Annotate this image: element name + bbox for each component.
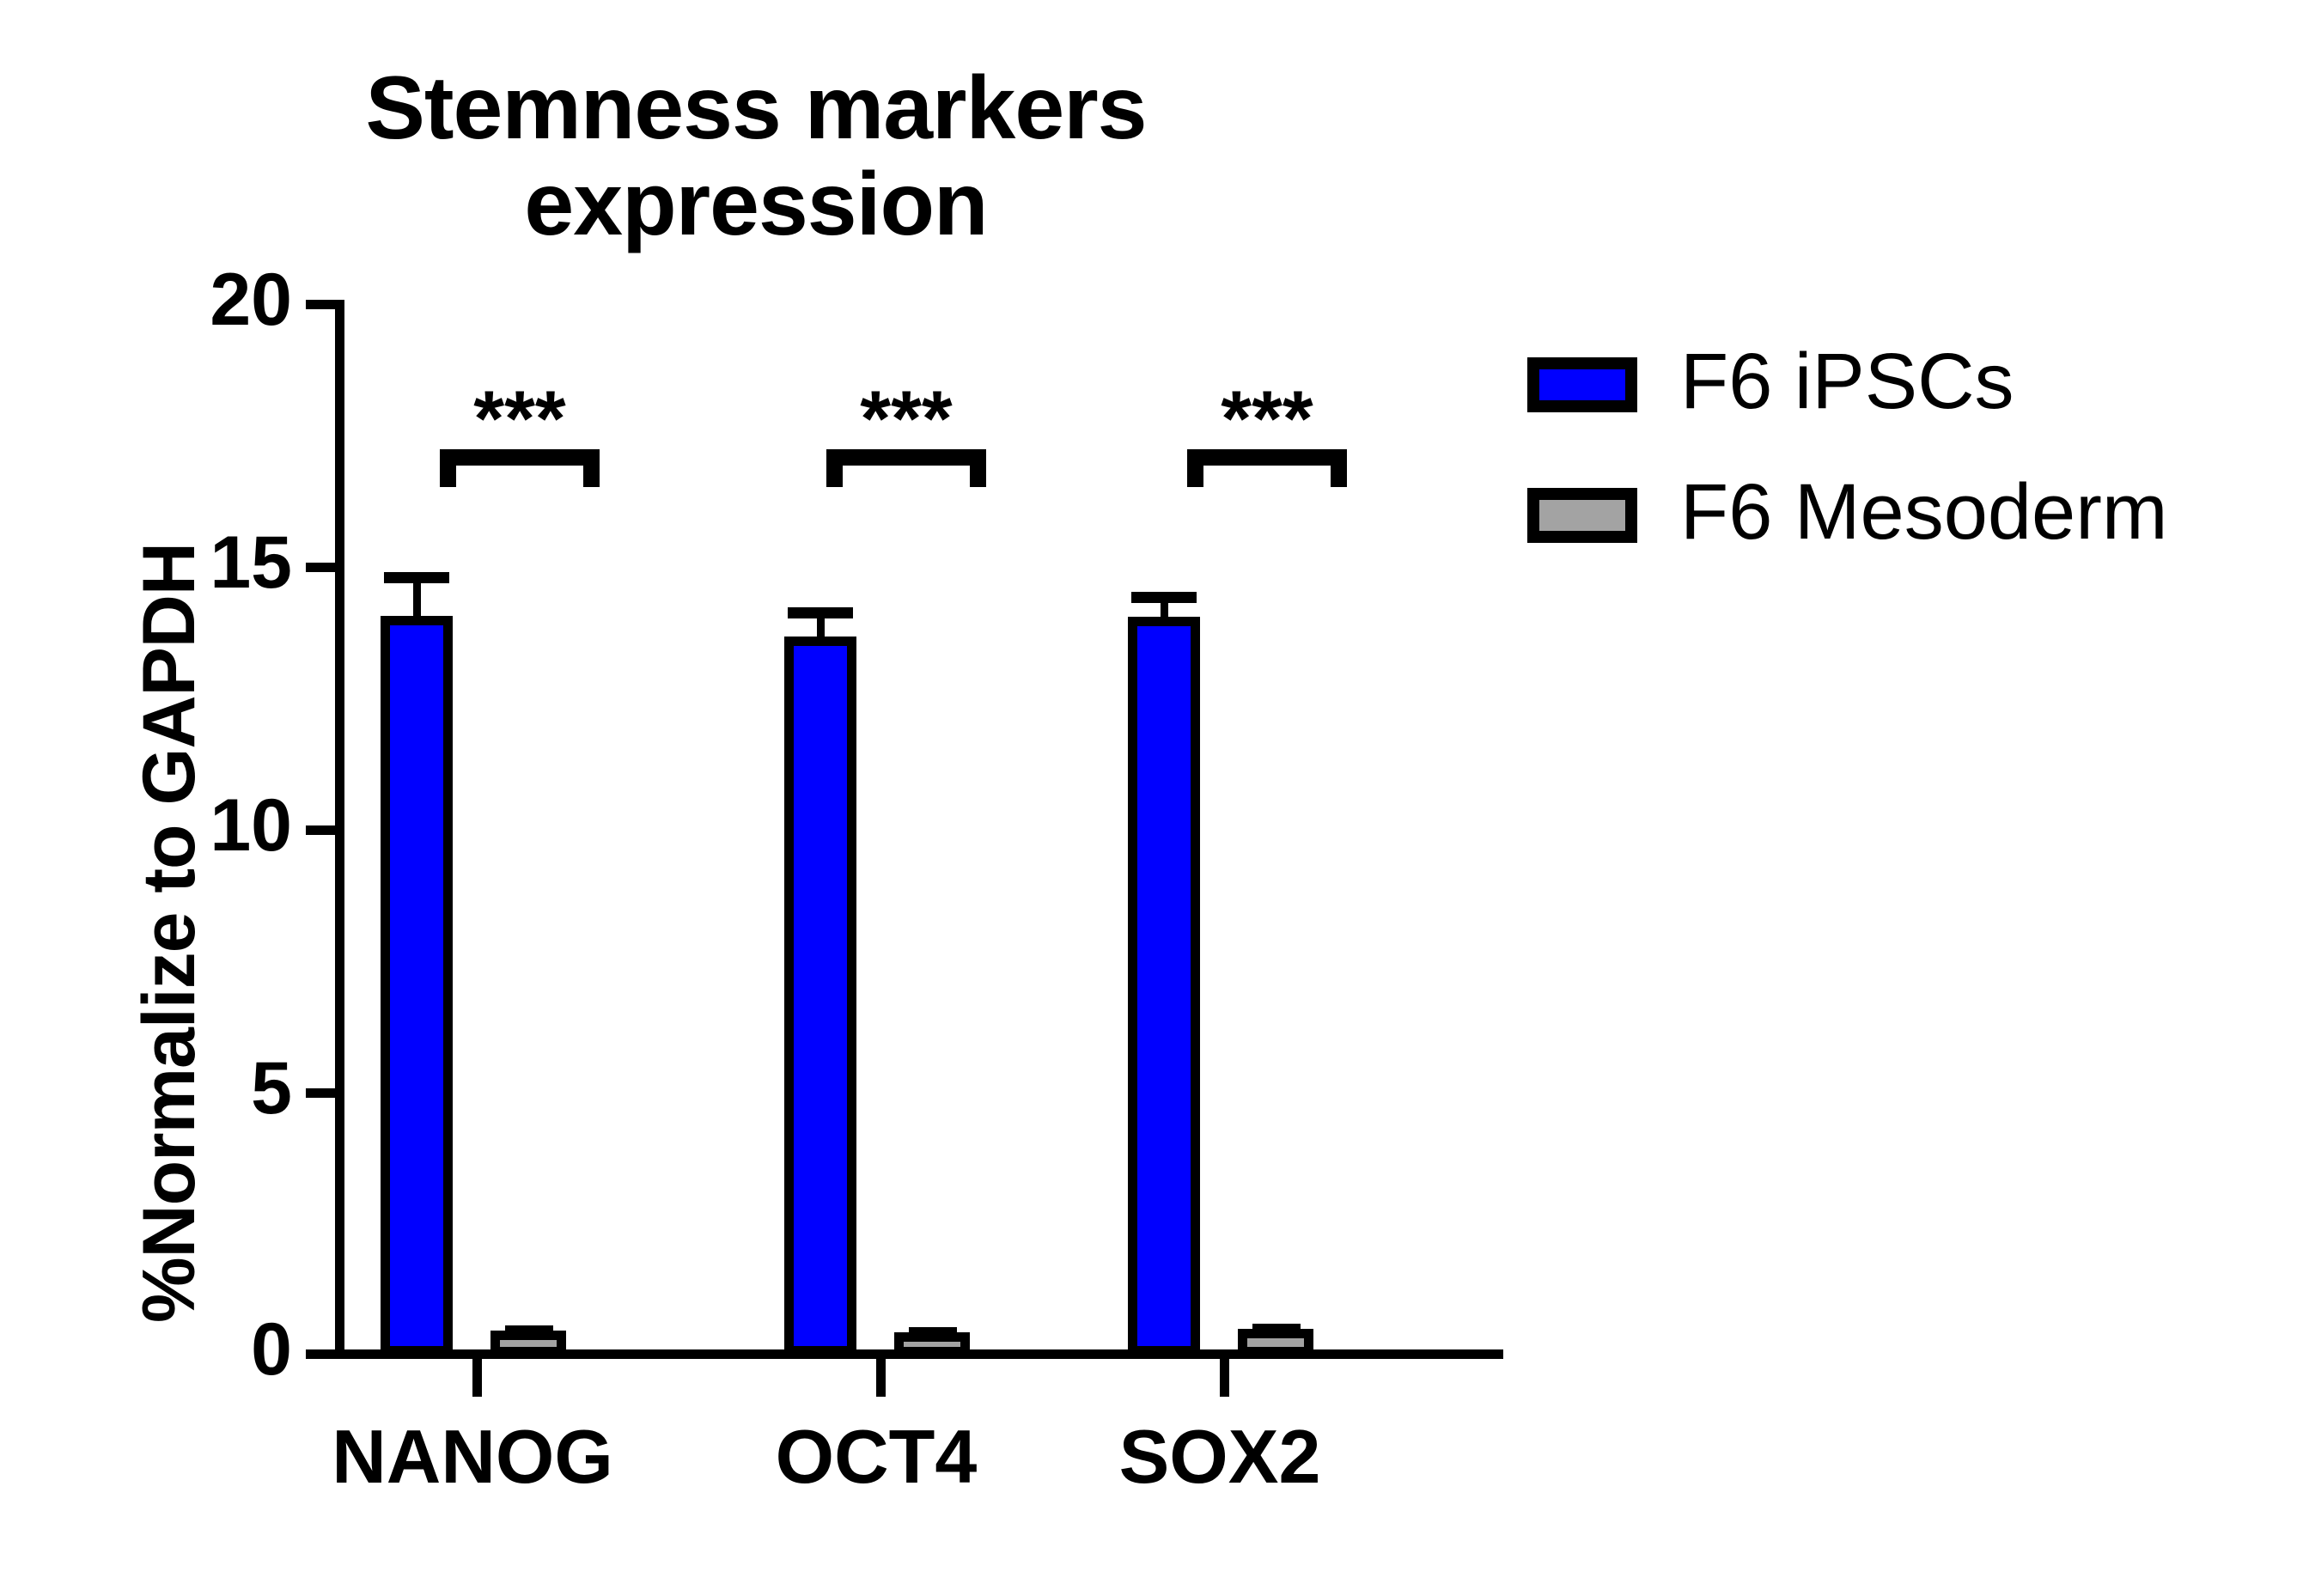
y-tick-5 bbox=[306, 1088, 335, 1098]
y-tick-label-5: 5 bbox=[146, 1051, 292, 1125]
bar-nanog-ipsc bbox=[381, 616, 453, 1355]
y-tick-label-15: 15 bbox=[146, 526, 292, 600]
y-tick-label-0: 0 bbox=[146, 1313, 292, 1386]
errorbar-cap-sox2-mesoderm bbox=[1252, 1324, 1301, 1335]
y-axis-spine bbox=[335, 300, 344, 1359]
legend-swatch-ipsc-icon bbox=[1527, 357, 1637, 412]
y-tick-label-20: 20 bbox=[146, 263, 292, 337]
x-tick-label-sox2: SOX2 bbox=[1052, 1413, 1387, 1501]
bar-sox2-ipsc bbox=[1128, 617, 1200, 1355]
x-tick-label-nanog: NANOG bbox=[305, 1413, 640, 1501]
errorbar-cap-sox2-ipsc bbox=[1131, 592, 1197, 603]
legend-label-ipsc: F6 iPSCs bbox=[1680, 337, 2014, 427]
errorbar-cap-nanog-ipsc bbox=[384, 572, 449, 583]
x-tick-label-oct4: OCT4 bbox=[709, 1413, 1044, 1501]
errorbar-cap-oct4-mesoderm bbox=[909, 1327, 957, 1338]
x-tick-sox2 bbox=[1220, 1359, 1229, 1397]
y-tick-0 bbox=[306, 1349, 335, 1359]
errorbar-cap-oct4-ipsc bbox=[788, 607, 853, 618]
y-tick-10 bbox=[306, 825, 335, 835]
significance-stars-sox2: *** bbox=[1187, 388, 1347, 452]
bar-oct4-ipsc bbox=[784, 637, 856, 1355]
x-tick-nanog bbox=[472, 1359, 482, 1397]
chart-title: Stemness markers expression bbox=[155, 60, 1357, 253]
bar-chart-figure: Stemness markers expression %Normalize t… bbox=[0, 0, 2303, 1596]
y-tick-20 bbox=[306, 300, 335, 309]
significance-stars-nanog: *** bbox=[440, 388, 600, 452]
chart-title-line-1: Stemness markers bbox=[155, 60, 1357, 156]
x-tick-oct4 bbox=[876, 1359, 886, 1397]
chart-title-line-2: expression bbox=[155, 156, 1357, 253]
significance-stars-oct4: *** bbox=[826, 388, 986, 452]
errorbar-cap-nanog-mesoderm bbox=[505, 1325, 553, 1337]
legend-swatch-mesoderm-icon bbox=[1527, 488, 1637, 543]
legend-label-mesoderm: F6 Mesoderm bbox=[1680, 467, 2168, 557]
y-tick-label-10: 10 bbox=[146, 789, 292, 862]
y-tick-15 bbox=[306, 563, 335, 572]
